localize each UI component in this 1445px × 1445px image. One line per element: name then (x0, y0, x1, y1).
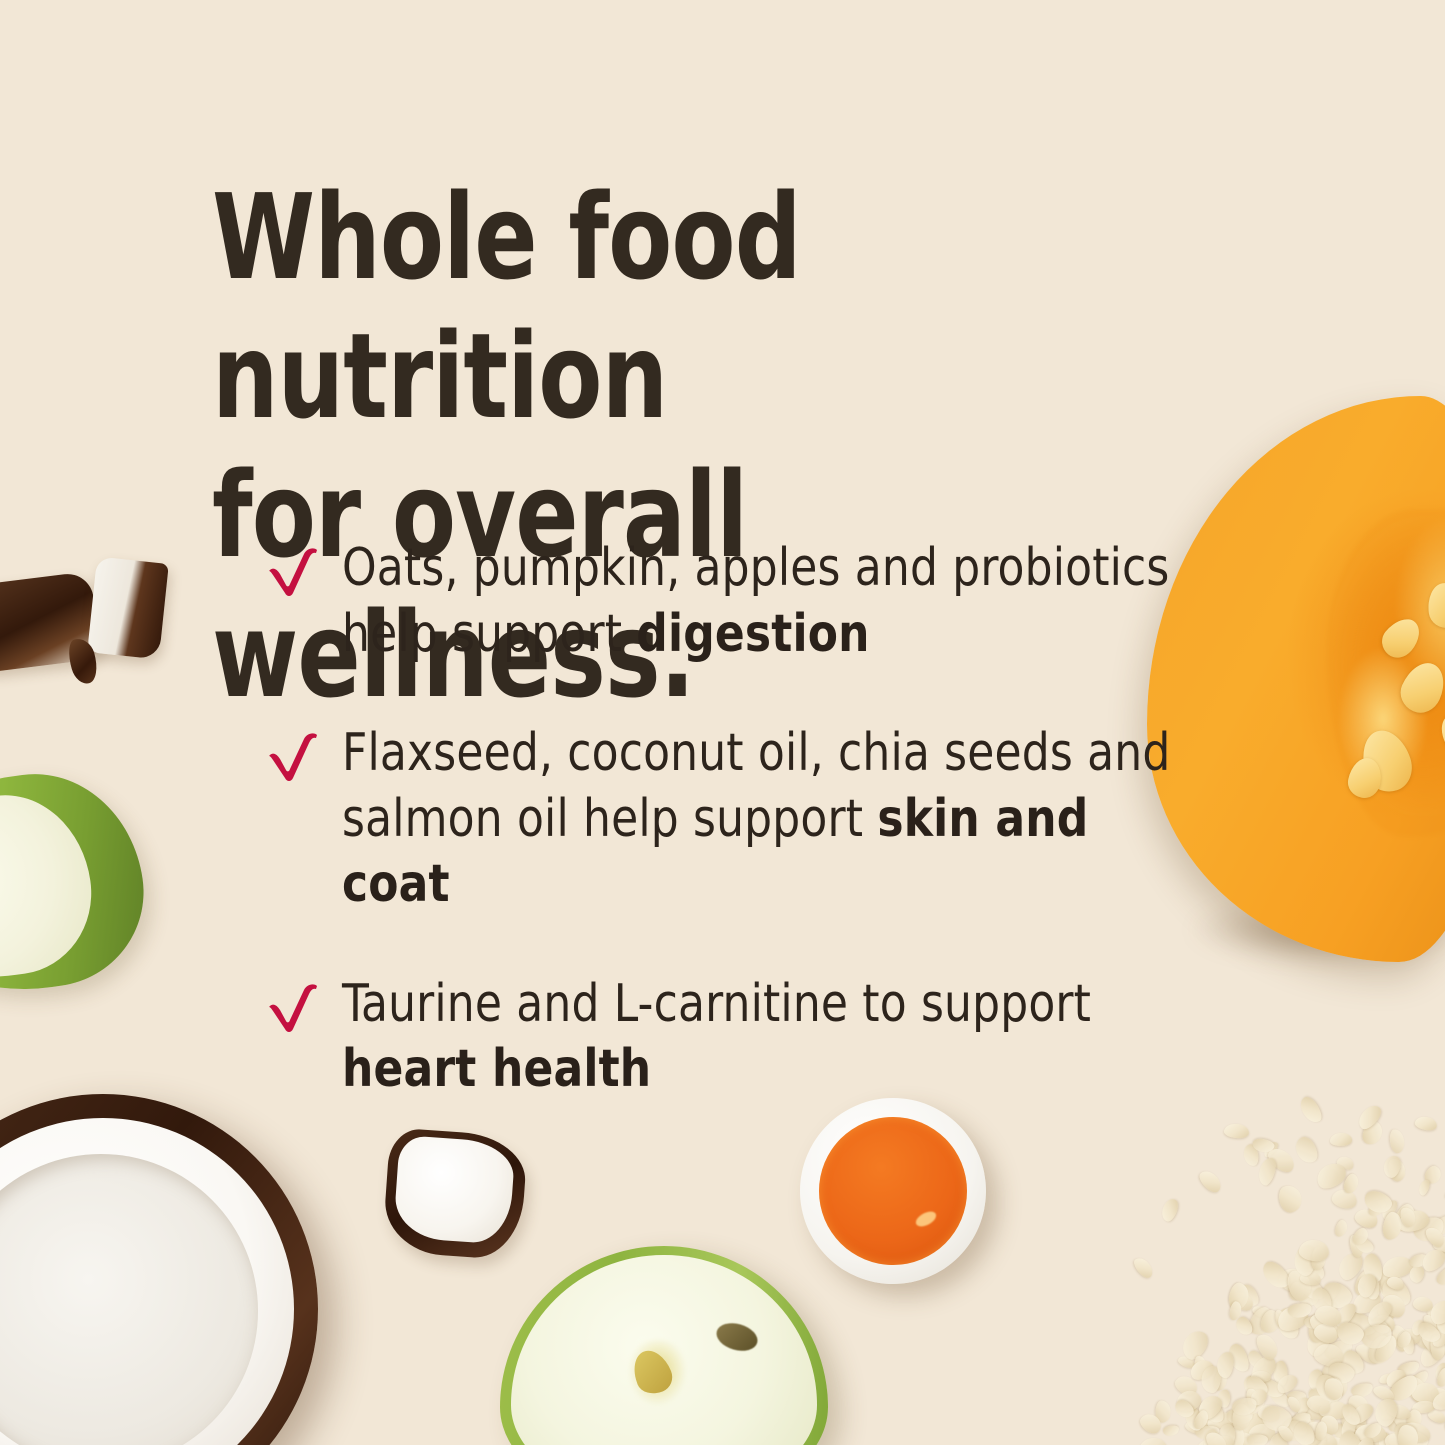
oat-flake (1310, 1433, 1338, 1445)
oat-flake (1363, 1441, 1385, 1445)
oat-flake (1381, 1211, 1404, 1242)
oat-flake (1218, 1390, 1230, 1408)
oat-flake (1238, 1393, 1268, 1419)
list-item-text-emphasis: digestion (636, 604, 869, 664)
oat-flake (1278, 1413, 1314, 1445)
oat-flake (1329, 1419, 1363, 1445)
list-item-label: Taurine and L-carnitine to support heart… (342, 972, 1173, 1103)
oat-flake (1349, 1286, 1384, 1317)
apple-slice-image (0, 760, 156, 1005)
oat-flake (1390, 1323, 1411, 1353)
oat-flake (1250, 1304, 1270, 1321)
oat-flake (1303, 1324, 1335, 1360)
oat-flake (1323, 1433, 1355, 1445)
oat-flake (1364, 1313, 1392, 1344)
oat-flake (1276, 1182, 1305, 1214)
oat-flake (1220, 1424, 1249, 1445)
oat-flake (1294, 1272, 1328, 1304)
oat-flake (1353, 1207, 1381, 1231)
oat-flake (1395, 1329, 1413, 1350)
oat-flake (1258, 1308, 1282, 1336)
oat-flake (1345, 1423, 1374, 1445)
oat-flake (1414, 1115, 1438, 1131)
pumpkin-seed (1355, 724, 1419, 798)
oat-flake (1246, 1303, 1279, 1339)
oat-flake (1251, 1138, 1275, 1155)
oat-flake (1241, 1374, 1263, 1398)
oat-flake (1247, 1435, 1268, 1445)
oat-flake (1352, 1267, 1379, 1299)
oat-flake (1387, 1429, 1412, 1445)
oat-flake (1316, 1376, 1341, 1394)
oat-flake (1138, 1437, 1168, 1445)
oat-flake (1202, 1429, 1222, 1445)
oat-flake (1396, 1208, 1431, 1236)
oat-flake (1178, 1326, 1212, 1363)
oat-flake (1379, 1290, 1409, 1321)
oat-flake (1355, 1102, 1385, 1133)
salmon-oil-bowl-image (800, 1098, 986, 1284)
oat-flake (1435, 1367, 1445, 1389)
oat-flake (1345, 1392, 1372, 1421)
oat-flake (1402, 1335, 1415, 1354)
oat-flake (1330, 1132, 1352, 1146)
oat-flake (1398, 1328, 1421, 1346)
oat-flake (1288, 1281, 1306, 1302)
oat-flake (1247, 1386, 1269, 1408)
oat-flake (1316, 1166, 1341, 1190)
list-item: Oats, pumpkin, apples and probiotics hel… (266, 536, 1226, 667)
oat-flake (1131, 1254, 1156, 1280)
oat-flake (1292, 1410, 1314, 1438)
oat-flake (1386, 1402, 1412, 1420)
oat-flake (1366, 1197, 1389, 1220)
oat-flake (1386, 1371, 1423, 1406)
oat-flake (1194, 1424, 1220, 1440)
pumpkin-seed (1434, 708, 1445, 758)
oat-flake (1418, 1323, 1445, 1360)
oat-flake (1298, 1239, 1329, 1263)
bowl-rim (800, 1098, 986, 1284)
oat-flake (1385, 1412, 1410, 1436)
oat-flake (1312, 1159, 1348, 1193)
oat-flake (1266, 1384, 1292, 1411)
apple-half-skin (500, 1246, 828, 1445)
oat-flake (1326, 1360, 1356, 1386)
list-item: Taurine and L-carnitine to support heart… (266, 972, 1226, 1103)
oat-flake (1361, 1187, 1394, 1216)
oat-flake (1245, 1347, 1267, 1370)
oat-flake (1416, 1321, 1445, 1357)
oat-flake (1299, 1436, 1329, 1445)
oat-flake (1407, 1264, 1425, 1285)
oat-flake (1397, 1360, 1421, 1378)
coconut-wedge-flesh (393, 1135, 516, 1245)
oat-flake (1430, 1388, 1445, 1413)
coconut-wedge-image (382, 1127, 528, 1260)
oat-flake (1159, 1196, 1180, 1223)
check-icon (266, 982, 322, 1034)
oat-flake (1334, 1428, 1366, 1445)
benefits-list: Oats, pumpkin, apples and probiotics hel… (266, 536, 1226, 1103)
oat-flake (1380, 1408, 1399, 1423)
oat-flake (1430, 1330, 1445, 1348)
apple-core (618, 1340, 697, 1418)
oat-flake (1234, 1429, 1257, 1445)
oat-flake (1378, 1372, 1396, 1386)
oat-flake (1293, 1244, 1318, 1277)
oat-flake (1357, 1428, 1373, 1445)
oat-flake (1274, 1309, 1287, 1329)
oat-flake (1334, 1249, 1367, 1284)
oat-flake (1429, 1334, 1445, 1361)
oat-flake (1381, 1154, 1402, 1179)
oat-flake (1322, 1375, 1346, 1402)
oat-flake (1312, 1302, 1344, 1329)
oat-flake (1308, 1313, 1329, 1344)
oat-flake (1227, 1409, 1253, 1425)
oat-flake (1310, 1381, 1345, 1414)
oat-flake (1335, 1154, 1354, 1170)
oat-flake (1194, 1356, 1207, 1374)
oat-flake (1225, 1341, 1252, 1374)
oat-flake (1305, 1392, 1334, 1416)
list-item-label: Flaxseed, coconut oil, chia seeds and sa… (342, 721, 1173, 918)
oat-flake (1319, 1373, 1343, 1393)
list-item-text-emphasis: heart health (342, 1039, 651, 1099)
oat-flake (1173, 1387, 1204, 1415)
oat-flake (1422, 1163, 1444, 1186)
oat-flake (1258, 1257, 1293, 1292)
oat-flake (1429, 1384, 1445, 1408)
oat-flake (1291, 1249, 1328, 1286)
oat-flake (1223, 1123, 1249, 1139)
oat-flake (1408, 1369, 1431, 1390)
oat-flake (1257, 1376, 1287, 1401)
oat-flake (1350, 1412, 1366, 1439)
oat-flake (1243, 1372, 1272, 1399)
oat-flake (1267, 1432, 1290, 1445)
oat-flake (1434, 1264, 1445, 1289)
coconut-inner-bowl (0, 1154, 258, 1445)
oat-flake (1377, 1273, 1416, 1313)
list-item: Flaxseed, coconut oil, chia seeds and sa… (266, 721, 1226, 918)
oat-flake (1311, 1370, 1347, 1407)
oat-flake (1228, 1432, 1257, 1445)
oat-flake (1294, 1286, 1321, 1309)
coconut-husk (0, 1094, 318, 1445)
oat-flake (1287, 1391, 1306, 1404)
oat-flake (1398, 1419, 1433, 1444)
oat-flake (1341, 1172, 1360, 1195)
oat-flake (1198, 1401, 1216, 1428)
oat-flake (1258, 1403, 1294, 1435)
oat-flake (1357, 1273, 1386, 1294)
oat-flake (1412, 1295, 1434, 1313)
oat-flake (1398, 1205, 1423, 1229)
oat-flake (1314, 1421, 1329, 1441)
oat-flake (1326, 1370, 1349, 1399)
oat-flake (1188, 1357, 1217, 1383)
oat-flake (1311, 1320, 1340, 1346)
oat-flake (1398, 1205, 1418, 1228)
oat-flake (1303, 1417, 1332, 1445)
oat-flake (1311, 1247, 1327, 1272)
oat-flake (1287, 1301, 1312, 1318)
oat-flake (1334, 1319, 1366, 1347)
oat-flake (1296, 1251, 1326, 1282)
oat-flake (1426, 1305, 1445, 1325)
oat-flake (1312, 1439, 1330, 1445)
whole-food-nutrition-poster: Whole food nutrition for overall wellnes… (0, 0, 1445, 1445)
oat-flake (1432, 1236, 1445, 1253)
oat-flake (1426, 1296, 1445, 1329)
oat-flake (1219, 1424, 1236, 1445)
oat-flake (1391, 1202, 1419, 1235)
oat-flake (1183, 1404, 1205, 1433)
oil-glint (914, 1209, 939, 1230)
oat-flake (1276, 1423, 1296, 1444)
oat-flake (1359, 1423, 1390, 1445)
oat-flake (1213, 1369, 1228, 1392)
oat-flake (1407, 1252, 1429, 1270)
check-icon (266, 731, 322, 783)
coconut-meat (0, 1118, 294, 1445)
oat-flake (1389, 1404, 1422, 1436)
oat-flake (1201, 1366, 1222, 1394)
oat-flake (1276, 1265, 1312, 1297)
oat-flake (1418, 1245, 1445, 1275)
oat-flake (1304, 1317, 1322, 1329)
oat-flake (1355, 1424, 1386, 1442)
oat-flake (1296, 1426, 1331, 1445)
oat-flake (1412, 1383, 1440, 1405)
oat-flake (1320, 1298, 1338, 1320)
oat-flake (1246, 1422, 1276, 1445)
oat-flake (1416, 1337, 1445, 1370)
oat-flake (1339, 1401, 1364, 1428)
oat-flake (1292, 1134, 1321, 1166)
oat-flake (1405, 1437, 1424, 1445)
oat-flake (1402, 1372, 1434, 1408)
oat-flake (1191, 1409, 1211, 1433)
oat-flake (1296, 1397, 1330, 1422)
oat-flake (1366, 1333, 1398, 1368)
apple-slice-flesh (0, 785, 101, 991)
oat-flake (1348, 1400, 1375, 1427)
oat-flake (1397, 1424, 1419, 1445)
oat-flake (1191, 1435, 1229, 1445)
oat-flake (1286, 1395, 1303, 1414)
oat-flake (1417, 1178, 1431, 1196)
oat-flake (1422, 1224, 1445, 1250)
oat-flake (1265, 1144, 1299, 1176)
oat-flake (1227, 1282, 1251, 1312)
oat-flake (1408, 1322, 1439, 1352)
coconut-speck-image (64, 635, 102, 686)
oat-flake (1379, 1432, 1390, 1445)
oat-flake (1372, 1333, 1401, 1366)
oat-flake (1228, 1288, 1256, 1313)
oat-flake (1273, 1301, 1310, 1334)
oat-flake (1350, 1429, 1370, 1443)
oat-flake (1307, 1383, 1326, 1405)
coconut-chunk-image (87, 556, 169, 659)
oat-flake (1386, 1275, 1405, 1291)
oat-flake (1196, 1167, 1224, 1195)
oat-flake (1372, 1383, 1397, 1403)
oat-flake (1319, 1279, 1356, 1313)
oat-flake (1226, 1411, 1244, 1434)
oat-flake (1177, 1354, 1197, 1369)
oat-flake (1183, 1419, 1205, 1436)
oat-flake (1284, 1267, 1315, 1303)
oat-flake (1290, 1419, 1318, 1445)
oat-flake (1422, 1313, 1439, 1334)
list-item-text-regular: Taurine and L-carnitine to support (342, 974, 1091, 1034)
oat-flake (1137, 1410, 1165, 1436)
oat-flake (1415, 1319, 1443, 1345)
apple-stem-well (714, 1319, 762, 1356)
oat-flake (1352, 1435, 1376, 1445)
oat-flake (1296, 1094, 1325, 1126)
oat-flake (1162, 1425, 1180, 1438)
oat-flake (1253, 1331, 1281, 1362)
oat-flake (1331, 1300, 1358, 1330)
oat-flake (1379, 1198, 1399, 1221)
oat-flake (1411, 1213, 1445, 1245)
oat-flake (1262, 1139, 1280, 1158)
oat-flake (1294, 1396, 1312, 1417)
oat-flake (1379, 1266, 1403, 1297)
pumpkin-seed (1394, 656, 1445, 719)
oat-flake (1339, 1415, 1358, 1441)
oat-flake (1319, 1355, 1347, 1384)
oat-flake (1302, 1432, 1322, 1445)
oat-flake (1299, 1408, 1316, 1428)
oat-flake (1318, 1412, 1342, 1438)
oat-flake (1228, 1300, 1243, 1321)
oat-flake (1388, 1128, 1406, 1154)
oat-flake (1206, 1410, 1237, 1430)
oat-flake (1382, 1429, 1414, 1445)
oat-flake (1348, 1234, 1365, 1259)
pumpkin-seed (1375, 611, 1427, 664)
oat-flake (1288, 1419, 1310, 1439)
oat-flake (1315, 1314, 1347, 1347)
oat-flake (1308, 1428, 1333, 1445)
oat-flake (1349, 1381, 1374, 1399)
oat-flake (1355, 1272, 1379, 1300)
oat-flake (1360, 1119, 1386, 1148)
oat-flake (1307, 1285, 1334, 1316)
pumpkin-seed (1425, 580, 1445, 630)
oat-flake (1372, 1314, 1397, 1335)
apple-half-flesh (511, 1255, 816, 1445)
oat-flake (1438, 1240, 1445, 1264)
oat-flake (1372, 1330, 1389, 1357)
list-item-label: Oats, pumpkin, apples and probiotics hel… (342, 536, 1173, 667)
oat-flake (1319, 1401, 1349, 1419)
apple-seed (628, 1345, 678, 1399)
oat-flake (1410, 1318, 1427, 1337)
oat-flake (1257, 1404, 1282, 1424)
oat-flake (1385, 1156, 1408, 1183)
oat-flake (1155, 1401, 1171, 1424)
oat-flake (1299, 1271, 1322, 1287)
oat-flake (1412, 1399, 1436, 1414)
oat-flake (1288, 1410, 1313, 1430)
oat-flake (1325, 1282, 1341, 1302)
oat-flake (1322, 1337, 1356, 1364)
oat-flake (1232, 1408, 1268, 1441)
oat-flake (1346, 1313, 1362, 1332)
oats-pile-image (1125, 1095, 1445, 1445)
oat-flake (1215, 1351, 1234, 1379)
oat-flake (1172, 1372, 1200, 1398)
oat-flake (1330, 1188, 1358, 1211)
oat-flake (1273, 1306, 1301, 1342)
oat-flake (1426, 1408, 1445, 1425)
oat-flake (1306, 1307, 1344, 1343)
oat-flake (1256, 1156, 1278, 1187)
oat-flake (1171, 1396, 1197, 1421)
oat-flake (1434, 1362, 1445, 1383)
oat-flake (1363, 1297, 1395, 1330)
oat-flake (1360, 1251, 1384, 1284)
oat-flake (1425, 1320, 1445, 1348)
oat-flake (1308, 1369, 1324, 1392)
oat-flake (1306, 1387, 1333, 1410)
oat-flake (1373, 1397, 1401, 1429)
oat-flake (1231, 1402, 1251, 1430)
oat-flake (1436, 1314, 1445, 1336)
oat-flake (1202, 1400, 1226, 1426)
oat-flake (1377, 1277, 1398, 1302)
oat-flake (1358, 1320, 1395, 1352)
oat-flake (1274, 1370, 1301, 1396)
oat-flake (1235, 1281, 1261, 1309)
coconut-chunk-image (0, 571, 101, 673)
oat-flake (1352, 1234, 1376, 1256)
check-icon (266, 546, 322, 598)
apple-slice-skin (0, 760, 156, 1005)
oat-flake (1194, 1392, 1225, 1424)
coconut-half-image (0, 1094, 318, 1445)
oat-flake (1223, 1410, 1243, 1438)
oat-flake (1338, 1347, 1368, 1378)
oat-flake (1362, 1421, 1384, 1442)
oat-flake (1233, 1315, 1255, 1339)
oat-flake (1312, 1340, 1347, 1369)
oat-flake (1251, 1371, 1271, 1383)
oat-flake (1247, 1352, 1279, 1386)
oat-flake (1427, 1212, 1445, 1240)
oat-flake (1406, 1408, 1423, 1429)
oat-flake (1242, 1143, 1260, 1168)
oat-flake (1351, 1226, 1372, 1248)
oat-flake (1333, 1219, 1349, 1238)
oat-flake (1208, 1434, 1235, 1445)
oat-flake (1396, 1428, 1430, 1445)
salmon-oil (819, 1117, 968, 1266)
oat-flake (1376, 1304, 1396, 1322)
oat-flake (1368, 1315, 1391, 1337)
apple-half-image (500, 1246, 828, 1445)
pumpkin-pulp (1327, 509, 1445, 837)
oat-flake (1270, 1429, 1290, 1445)
oat-flake (1383, 1366, 1408, 1390)
